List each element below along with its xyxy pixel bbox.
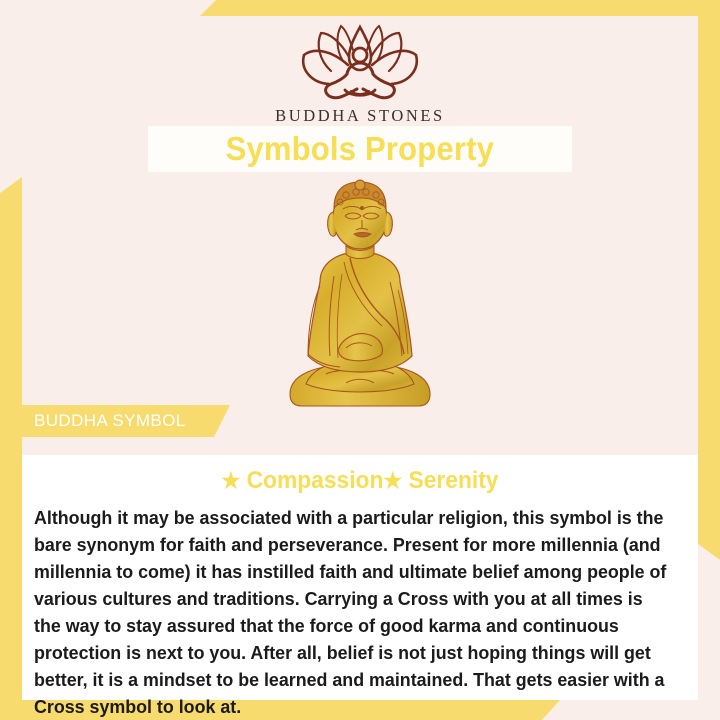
content-subtitle: ★ Compassion★ Serenity xyxy=(39,467,681,495)
brand-wordmark: BUDDHA STONES xyxy=(0,106,720,126)
poster-canvas: BUDDHA STONES Symbols Property xyxy=(0,0,720,720)
subtitle-serenity: Serenity xyxy=(402,467,498,494)
brand-logo-block: BUDDHA STONES xyxy=(0,24,720,126)
buddha-symbol-tag: BUDDHA SYMBOL xyxy=(0,405,230,437)
star-icon-2: ★ xyxy=(383,468,402,493)
decor-top-band xyxy=(200,0,720,16)
page-title: Symbols Property xyxy=(226,130,494,168)
buddha-statue-svg xyxy=(250,178,470,418)
title-banner: Symbols Property xyxy=(148,126,572,172)
decor-left-strip xyxy=(0,177,22,705)
content-paragraph: Although it may be associated with a par… xyxy=(34,504,666,720)
lotus-meditation-icon xyxy=(285,24,435,102)
buddha-symbol-tag-label: BUDDHA SYMBOL xyxy=(34,411,186,431)
seated-buddha-statue-image xyxy=(250,178,470,418)
content-card: ★ Compassion★ Serenity Although it may b… xyxy=(22,455,698,700)
star-icon-1: ★ xyxy=(222,468,241,493)
subtitle-compassion: Compassion xyxy=(240,467,383,494)
